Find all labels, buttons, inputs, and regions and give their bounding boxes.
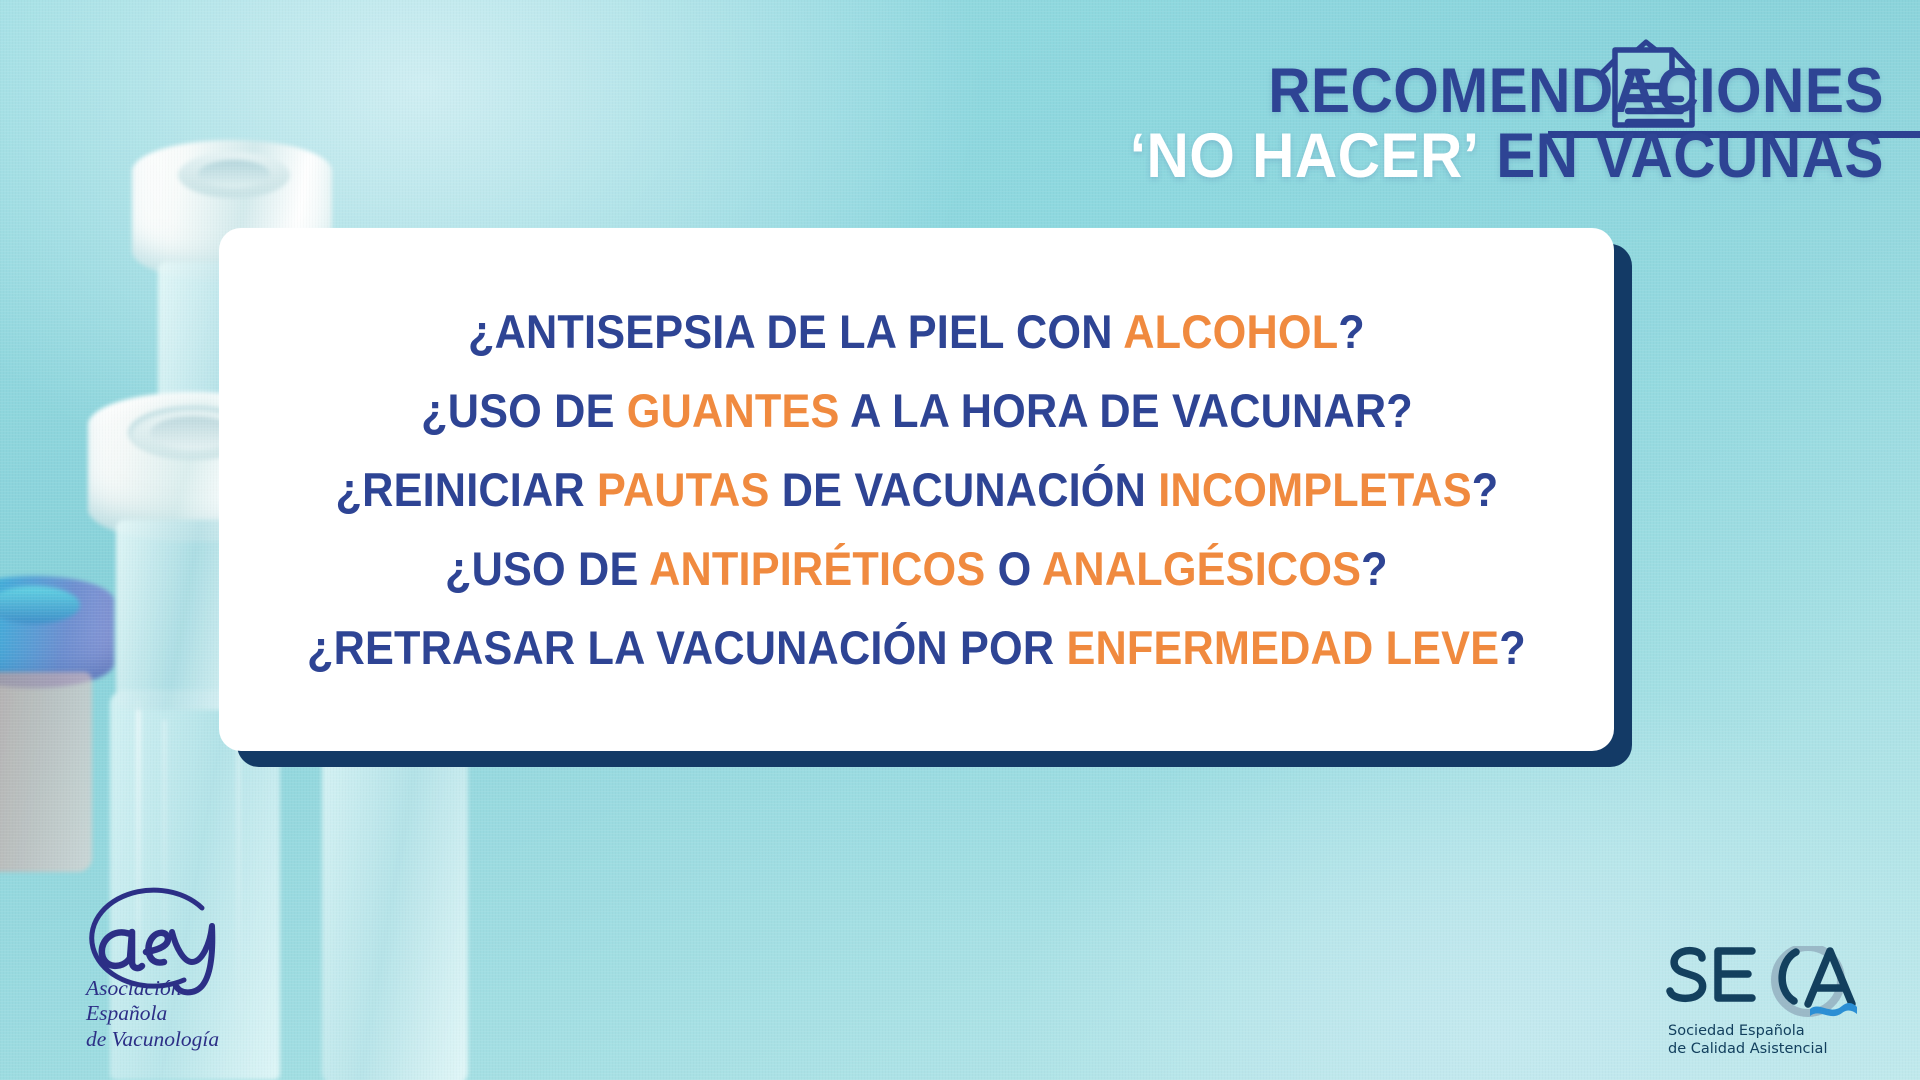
seca-logo: Sociedad Española de Calidad Asistencial	[1658, 946, 1882, 1064]
question-highlight-5-2: ENFERMEDAD LEVE	[1067, 621, 1500, 674]
question-text-4-1: ¿USO DE	[445, 542, 649, 595]
aev-logo-text: Asociación Española de Vacunología	[86, 976, 219, 1052]
questions-card: ¿ANTISEPSIA DE LA PIEL CON ALCOHOL?¿USO …	[219, 228, 1614, 751]
question-text-5-3: ?	[1499, 621, 1526, 674]
title-rest-phrase: EN VACUNAS	[1496, 121, 1884, 191]
title-line-2: ‘NO HACER’ EN VACUNAS	[1130, 127, 1884, 186]
question-line-5: ¿RETRASAR LA VACUNACIÓN POR ENFERMEDAD L…	[307, 620, 1526, 675]
question-text-2-3: A LA HORA DE VACUNAR?	[839, 384, 1412, 437]
question-highlight-1-2: ALCOHOL	[1123, 305, 1338, 358]
question-highlight-4-2: ANTIPIRÉTICOS	[649, 542, 985, 595]
seca-logo-mark	[1658, 946, 1882, 1020]
question-line-4: ¿USO DE ANTIPIRÉTICOS O ANALGÉSICOS?	[445, 541, 1388, 596]
question-text-3-3: DE VACUNACIÓN	[769, 463, 1158, 516]
title-quoted-phrase: ‘NO HACER’	[1130, 121, 1480, 191]
question-line-2: ¿USO DE GUANTES A LA HORA DE VACUNAR?	[421, 383, 1413, 438]
question-text-5-1: ¿RETRASAR LA VACUNACIÓN POR	[307, 621, 1066, 674]
title-line-1: RECOMENDACIONES	[1130, 62, 1884, 121]
aev-text-line-3: de Vacunología	[86, 1027, 219, 1052]
question-highlight-3-4: INCOMPLETAS	[1158, 463, 1472, 516]
question-line-3: ¿REINICIAR PAUTAS DE VACUNACIÓN INCOMPLE…	[335, 462, 1498, 517]
seca-subtitle-line-1: Sociedad Española	[1668, 1022, 1827, 1040]
question-text-4-5: ?	[1361, 542, 1388, 595]
question-text-2-1: ¿USO DE	[421, 384, 627, 437]
seca-logo-subtitle: Sociedad Española de Calidad Asistencial	[1668, 1022, 1827, 1058]
aev-text-line-1: Asociación	[86, 976, 219, 1001]
question-highlight-2-2: GUANTES	[626, 384, 839, 437]
question-line-1: ¿ANTISEPSIA DE LA PIEL CON ALCOHOL?	[468, 304, 1365, 359]
question-text-4-3: O	[986, 542, 1043, 595]
page-title: RECOMENDACIONES ‘NO HACER’ EN VACUNAS	[1073, 62, 1884, 185]
question-highlight-4-4: ANALGÉSICOS	[1042, 542, 1361, 595]
seca-subtitle-line-2: de Calidad Asistencial	[1668, 1040, 1827, 1058]
header: RECOMENDACIONES ‘NO HACER’ EN VACUNAS	[0, 0, 1920, 230]
question-text-3-1: ¿REINICIAR	[335, 463, 596, 516]
question-text-1-3: ?	[1338, 305, 1365, 358]
question-text-3-5: ?	[1471, 463, 1498, 516]
question-highlight-3-2: PAUTAS	[597, 463, 769, 516]
question-text-1-1: ¿ANTISEPSIA DE LA PIEL CON	[468, 305, 1123, 358]
aev-text-line-2: Española	[86, 1001, 219, 1026]
